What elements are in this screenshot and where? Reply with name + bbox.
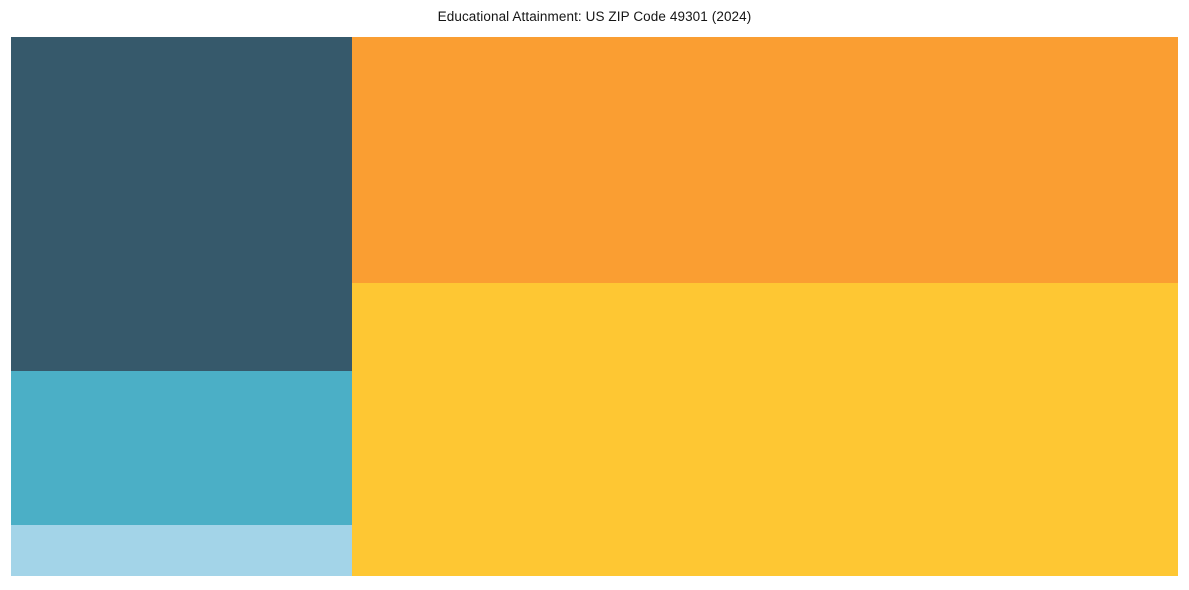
- page-title: Educational Attainment: US ZIP Code 4930…: [0, 8, 1189, 25]
- treemap-column-left: Some college, no degree Graduate or prof…: [11, 37, 352, 576]
- treemap-column-right: Bachelor's degree High school graduate (…: [352, 37, 1178, 576]
- treemap-tile-high-school-graduate[interactable]: High school graduate (includes equivalen…: [352, 283, 1178, 576]
- treemap-tile-some-college-no-degree[interactable]: Some college, no degree: [11, 37, 352, 371]
- treemap-tile-bachelors-degree[interactable]: Bachelor's degree: [352, 37, 1178, 283]
- treemap-plot-area: Some college, no degree Graduate or prof…: [11, 37, 1178, 576]
- treemap-figure: Educational Attainment: US ZIP Code 4930…: [0, 0, 1189, 590]
- treemap-tile-less-than-high-school-diploma[interactable]: Less than high school diploma: [11, 525, 352, 576]
- treemap-tile-graduate-or-professional-degree[interactable]: Graduate or professional degree: [11, 371, 352, 525]
